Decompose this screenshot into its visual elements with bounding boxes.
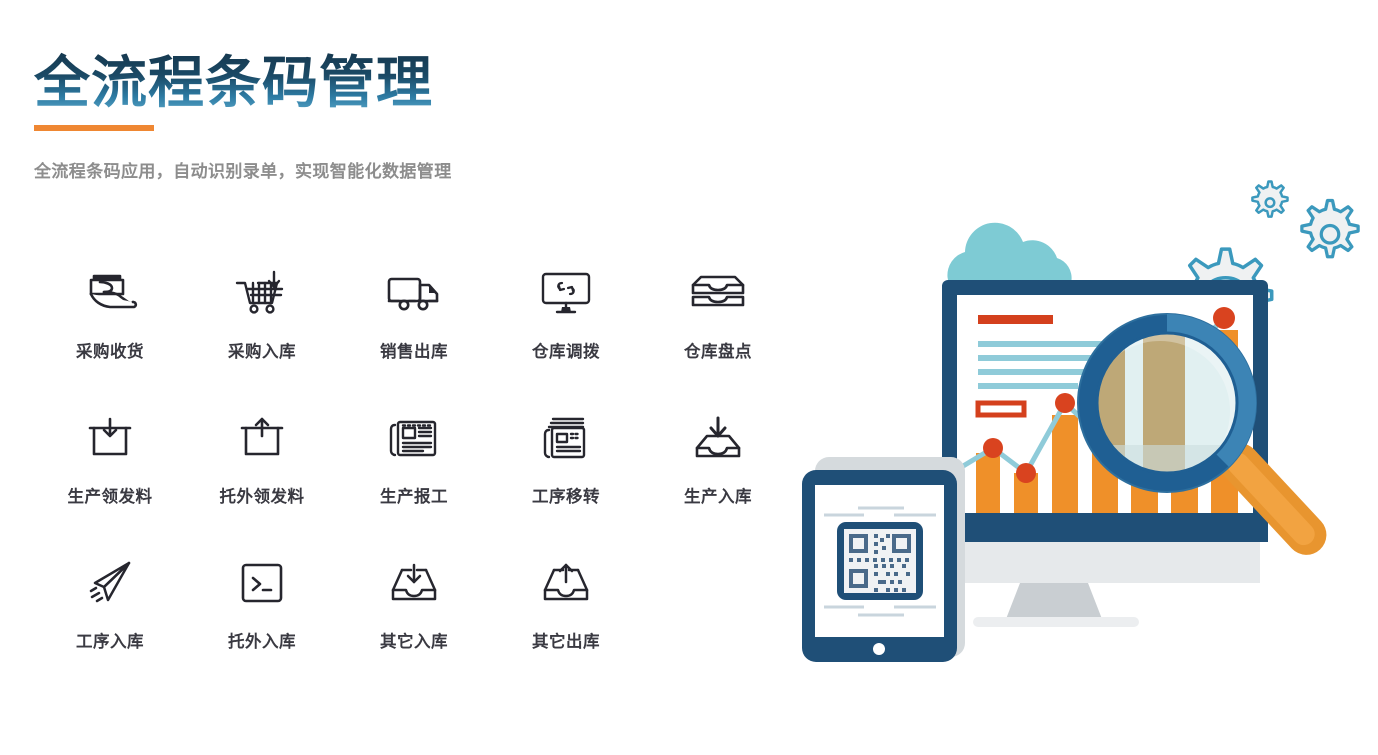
grid-item-process-transfer[interactable]: 工序移转 [490,407,642,552]
box-arrow-in-icon [84,407,136,469]
grid-item-other-inbound[interactable]: 其它入库 [338,552,490,697]
icon-row: 工序入库 托外入库 [34,552,794,697]
page-title: 全流程条码管理 [34,52,654,114]
feature-icon-grid: 采购收货 采购入库 [34,262,794,697]
paper-plane-icon [83,552,137,614]
monitor-transfer-arrows-icon [539,262,593,324]
grid-item-label: 采购入库 [228,338,296,362]
icon-row: 生产领发料 托外领发料 [34,407,794,552]
box-arrow-out-icon [236,407,288,469]
gear-medium-icon [1302,201,1358,257]
qr-code-icon [837,522,923,600]
icon-row: 采购收货 采购入库 [34,262,794,407]
grid-item-label: 销售出库 [380,338,448,362]
grid-item-label: 托外入库 [228,628,296,652]
grid-item-production-report[interactable]: 生产报工 [338,407,490,552]
grid-item-purchase-inbound[interactable]: 采购入库 [186,262,338,407]
delivery-truck-icon [385,262,443,324]
grid-item-process-inbound[interactable]: 工序入库 [34,552,186,697]
terminal-prompt-icon [238,552,286,614]
tray-arrow-down-icon [387,552,441,614]
page-header: 全流程条码管理 全流程条码应用，自动识别录单，实现智能化数据管理 [34,52,654,182]
tray-arrow-up-icon [539,552,593,614]
grid-item-purchase-receiving[interactable]: 采购收货 [34,262,186,407]
documents-stack-icon [539,407,593,469]
grid-item-label: 工序移转 [532,483,600,507]
grid-item-label: 生产入库 [684,483,752,507]
grid-item-label: 工序入库 [76,628,144,652]
grid-item-production-issue[interactable]: 生产领发料 [34,407,186,552]
grid-item-outsource-issue[interactable]: 托外领发料 [186,407,338,552]
shopping-cart-down-arrow-icon [233,262,291,324]
grid-item-label: 生产报工 [380,483,448,507]
grid-item-label: 采购收货 [76,338,144,362]
monitor-stand [960,535,1260,627]
gear-small-icon [1252,182,1287,217]
hand-receiving-box-icon [80,262,140,324]
stacked-trays-icon [689,262,747,324]
grid-item-label: 托外领发料 [220,483,305,507]
grid-item-label: 仓库盘点 [684,338,752,362]
title-underline-accent [34,125,154,131]
grid-item-label: 生产领发料 [68,483,153,507]
grid-item-label: 仓库调拨 [532,338,600,362]
page-subtitle: 全流程条码应用，自动识别录单，实现智能化数据管理 [34,157,654,182]
grid-item-production-inbound[interactable]: 生产入库 [642,407,794,552]
grid-item-label: 其它入库 [380,628,448,652]
grid-item-other-outbound[interactable]: 其它出库 [490,552,642,697]
grid-item-warehouse-stocktake[interactable]: 仓库盘点 [642,262,794,407]
tablet-device [802,470,957,662]
grid-item-label: 其它出库 [532,628,600,652]
grid-item-outsource-inbound[interactable]: 托外入库 [186,552,338,697]
barcode-analytics-illustration [790,160,1378,680]
grid-item-warehouse-transfer[interactable]: 仓库调拨 [490,262,642,407]
inbox-arrow-down-icon [691,407,745,469]
newspaper-report-icon [387,407,441,469]
grid-item-sales-outbound[interactable]: 销售出库 [338,262,490,407]
